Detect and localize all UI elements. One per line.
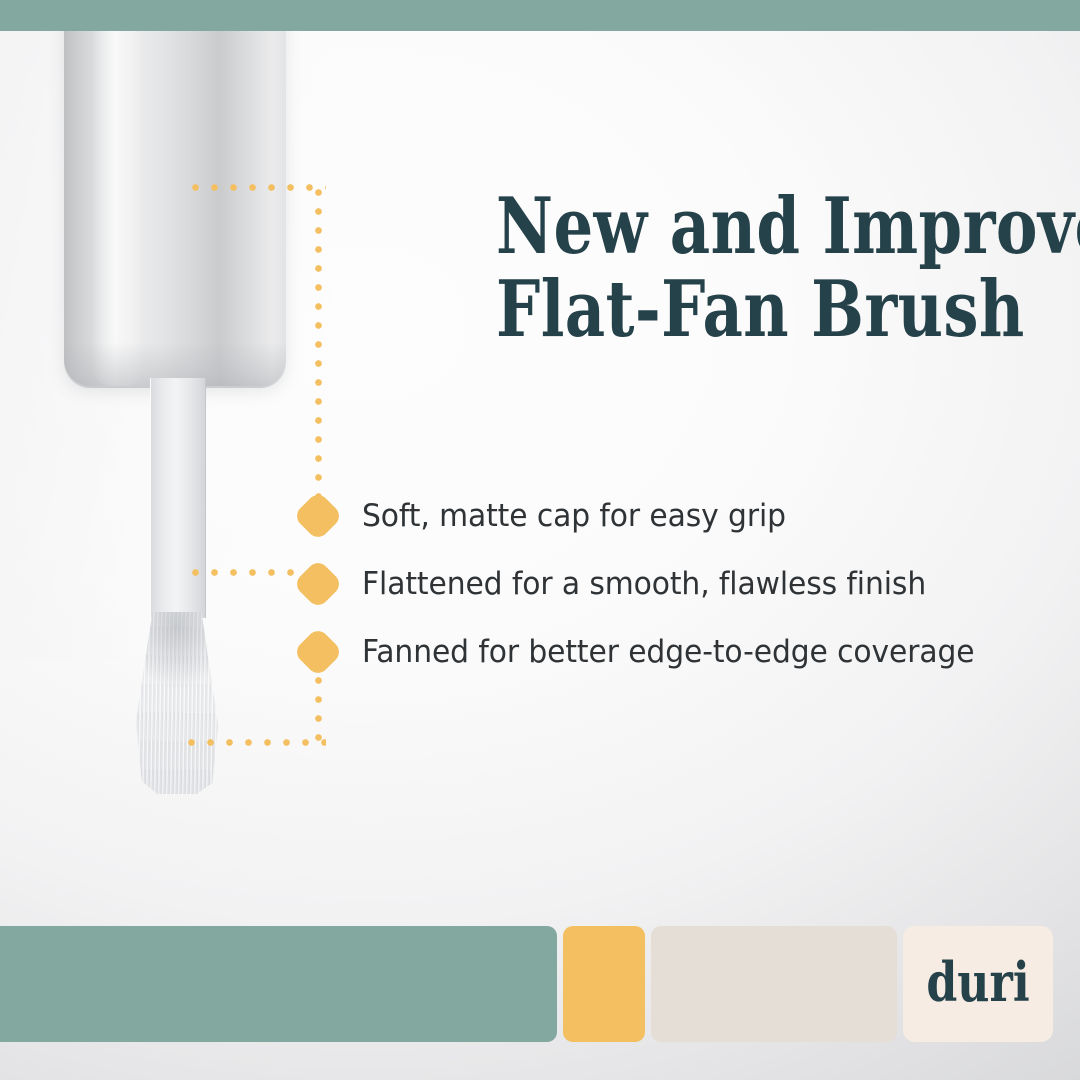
product-image xyxy=(0,0,360,820)
list-item: Fanned for better edge-to-edge coverage xyxy=(300,618,1040,686)
feature-label: Fanned for better edge-to-edge coverage xyxy=(362,634,975,670)
callout-line-fan-horizontal xyxy=(182,738,326,747)
page-title: New and Improved Flat-Fan Brush xyxy=(496,186,944,351)
cap-highlight xyxy=(92,0,144,386)
page-title-line-2: Flat-Fan Brush xyxy=(496,269,944,352)
brand-logo-block: duri xyxy=(903,926,1053,1042)
feature-list: Soft, matte cap for easy grip Flattened … xyxy=(300,482,1040,686)
marketing-graphic-canvas: New and Improved Flat-Fan Brush Soft, ma… xyxy=(0,0,1080,1080)
feature-label: Flattened for a smooth, flawless finish xyxy=(362,566,926,602)
brand-logo-text: duri xyxy=(926,955,1029,1013)
footer-amber-block xyxy=(563,926,645,1042)
list-item: Flattened for a smooth, flawless finish xyxy=(300,550,1040,618)
diamond-bullet-icon xyxy=(293,491,344,542)
footer-beige-block xyxy=(651,926,897,1042)
feature-label: Soft, matte cap for easy grip xyxy=(362,498,786,534)
list-item: Soft, matte cap for easy grip xyxy=(300,482,1040,550)
page-title-line-1: New and Improved xyxy=(496,186,944,269)
callout-line-cap-vertical xyxy=(314,183,323,505)
diamond-bullet-icon xyxy=(293,559,344,610)
diamond-bullet-icon xyxy=(293,627,344,678)
callout-line-cap-horizontal xyxy=(186,183,326,192)
footer-sage-block xyxy=(0,926,557,1042)
flat-brush-stem-edge xyxy=(150,378,206,618)
top-accent-bar xyxy=(0,0,1080,31)
